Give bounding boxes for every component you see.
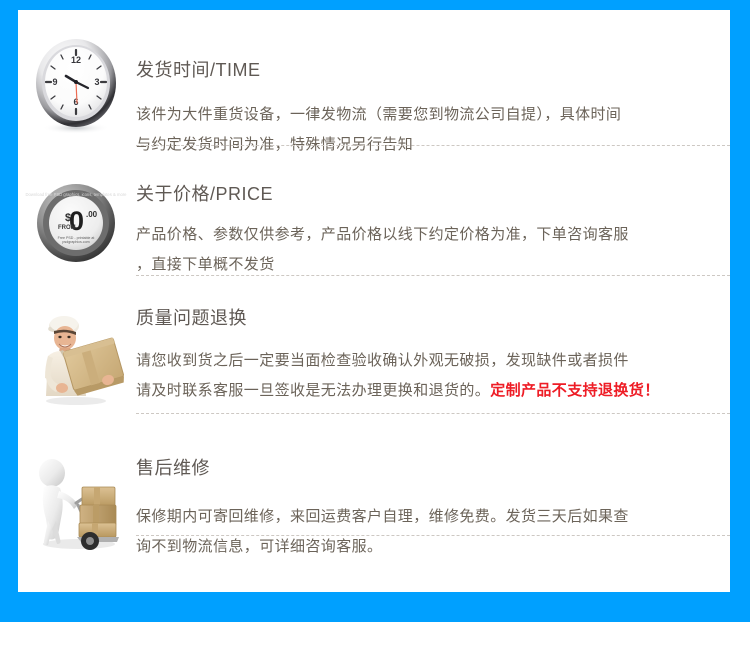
body-line-1: 请您收到货之后一定要当面检查验收确认外观无破损，发现缺件或者损件 <box>136 352 629 369</box>
section-after-sales: 售后维修 保修期内可寄回维修，来回运费客户自理，维修免费。发货三天后如果查 询不… <box>18 426 730 576</box>
section-title: 关于价格/PRICE <box>136 160 728 206</box>
section-title: 质量问题退换 <box>136 286 728 330</box>
svg-text:6: 6 <box>73 97 78 107</box>
hand-truck-boxes-icon <box>24 449 128 553</box>
svg-text:FROM: FROM <box>58 225 76 231</box>
body-line-2: 请及时联系客服一旦签收是无法办理更换和退货的。 <box>136 382 490 399</box>
section-text-column: 发货时间/TIME 该件为大件重货设备，一律发物流（需要您到物流公司自提），具体… <box>136 10 728 160</box>
section-text-column: 关于价格/PRICE 产品价格、参数仅供参考，产品价格以线下约定价格为准，下单咨… <box>136 160 728 286</box>
body-line-2: ，直接下单概不发货 <box>136 256 275 273</box>
section-divider <box>136 413 730 414</box>
section-divider <box>136 275 730 276</box>
section-body: 该件为大件重货设备，一律发物流（需要您到物流公司自提），具体时间 与约定发货时间… <box>136 82 728 160</box>
svg-text:psdgraphics.com: psdgraphics.com <box>62 240 89 244</box>
body-line-1: 该件为大件重货设备，一律发物流（需要您到物流公司自提），具体时间 <box>136 106 621 123</box>
section-quality-return: 质量问题退换 请您收到货之后一定要当面检查验收确认外观无破损，发现缺件或者损件 … <box>18 286 730 426</box>
blue-frame: 12 3 6 9 发货时间/TIME 该件为大件重货设备，一 <box>0 0 750 622</box>
section-text-column: 售后维修 保修期内可寄回维修，来回运费客户自理，维修免费。发货三天后如果查 询不… <box>136 426 728 576</box>
svg-text:9: 9 <box>52 77 57 87</box>
section-text-column: 质量问题退换 请您收到货之后一定要当面检查验收确认外观无破损，发现缺件或者损件 … <box>136 286 728 426</box>
svg-text:3: 3 <box>94 77 99 87</box>
zero-dollar-price-seal-icon: $ 0 .00 FROM Free PSD - printable at psd… <box>24 171 128 275</box>
section-body: 保修期内可寄回维修，来回运费客户自理，维修免费。发货三天后如果查 询不到物流信息… <box>136 480 728 562</box>
section-body: 请您收到货之后一定要当面检查验收确认外观无破损，发现缺件或者损件 请及时联系客服… <box>136 330 728 406</box>
svg-text:12: 12 <box>71 55 81 65</box>
section-title: 售后维修 <box>136 426 728 480</box>
section-divider <box>136 145 730 146</box>
delivery-man-with-box-icon <box>24 304 128 408</box>
section-divider <box>136 535 730 536</box>
content-panel: 12 3 6 9 发货时间/TIME 该件为大件重货设备，一 <box>18 10 730 592</box>
section-body: 产品价格、参数仅供参考，产品价格以线下约定价格为准，下单咨询客服 ，直接下单概不… <box>136 206 728 280</box>
body-line-2: 询不到物流信息，可详细咨询客服。 <box>136 538 382 555</box>
body-line-1: 保修期内可寄回维修，来回运费客户自理，维修免费。发货三天后如果查 <box>136 508 629 525</box>
body-line-1: 产品价格、参数仅供参考，产品价格以线下约定价格为准，下单咨询客服 <box>136 226 629 243</box>
section-price: $ 0 .00 FROM Free PSD - printable at psd… <box>18 160 730 286</box>
section-title: 发货时间/TIME <box>136 10 728 82</box>
emphasis-text: 定制产品不支持退换货！ <box>490 382 659 399</box>
svg-text:.00: .00 <box>86 210 98 219</box>
wall-clock-icon: 12 3 6 9 <box>24 33 128 137</box>
svg-text:Download free PSD graphics, ic: Download free PSD graphics, icons, templ… <box>25 192 127 197</box>
svg-text:0: 0 <box>69 206 84 236</box>
section-shipping-time: 12 3 6 9 发货时间/TIME 该件为大件重货设备，一 <box>18 10 730 160</box>
